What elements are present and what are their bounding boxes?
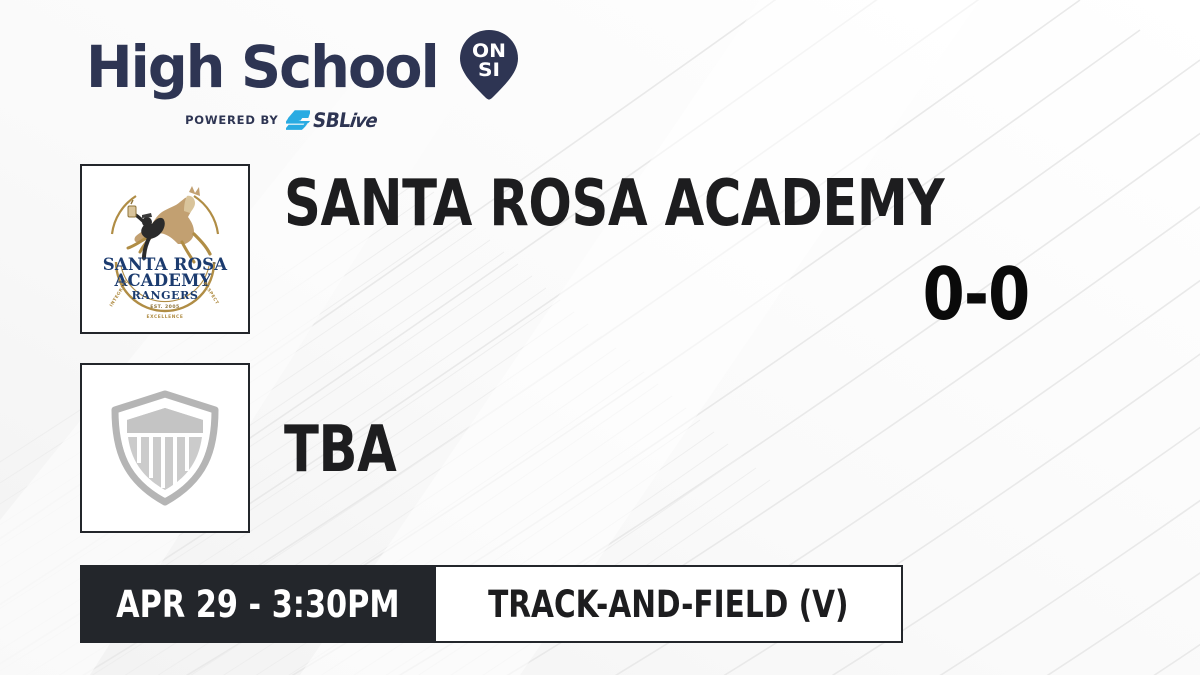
game-info-bar: APR 29 - 3:30PM TRACK-AND-FIELD (V) — [80, 565, 903, 643]
logo-text-line2: ACADEMY — [113, 271, 211, 290]
home-team-name: SANTA ROSA ACADEMY — [284, 172, 944, 236]
home-team-logo-box: SANTA ROSA ACADEMY RANGERS EST. 2005 EXC… — [80, 164, 250, 334]
away-team-name: TBA — [284, 418, 396, 482]
sblive-logo: SBLive — [286, 108, 382, 132]
sblive-name: SBL — [311, 108, 352, 132]
sblive-wordmark: SBLive — [311, 108, 379, 132]
onsi-pin-icon: ON SI — [458, 28, 520, 105]
santa-rosa-academy-rangers-logo: SANTA ROSA ACADEMY RANGERS EST. 2005 EXC… — [90, 174, 240, 324]
powered-by-row: POWERED BY SBLive — [86, 108, 481, 132]
logo-trademark-icon: ™ — [212, 262, 217, 268]
powered-by-label: POWERED BY — [185, 113, 278, 127]
sblive-s-icon — [286, 110, 310, 130]
score-display: 0-0 — [917, 258, 1035, 330]
game-datetime-label: APR 29 - 3:30PM — [116, 583, 399, 626]
logo-text-line3: RANGERS — [132, 289, 199, 302]
game-datetime-badge: APR 29 - 3:30PM — [80, 565, 436, 643]
away-team-logo-box — [80, 363, 250, 533]
game-sport-label: TRACK-AND-FIELD (V) — [488, 583, 849, 626]
scoreboard-graphic: High School ON SI POWERED BY SBLive — [0, 0, 1200, 675]
onsi-pin-line2: SI — [478, 58, 500, 80]
logo-text-motto-center: EXCELLENCE — [147, 314, 184, 320]
placeholder-shield-icon — [105, 388, 225, 508]
brand-title: High School — [86, 38, 438, 96]
brand-header: High School ON SI POWERED BY SBLive — [86, 32, 506, 132]
logo-text-est: EST. 2005 — [150, 304, 180, 310]
game-sport-badge: TRACK-AND-FIELD (V) — [436, 565, 903, 643]
sblive-name-italic: ive — [348, 110, 378, 132]
brand-title-row: High School ON SI — [86, 32, 506, 102]
